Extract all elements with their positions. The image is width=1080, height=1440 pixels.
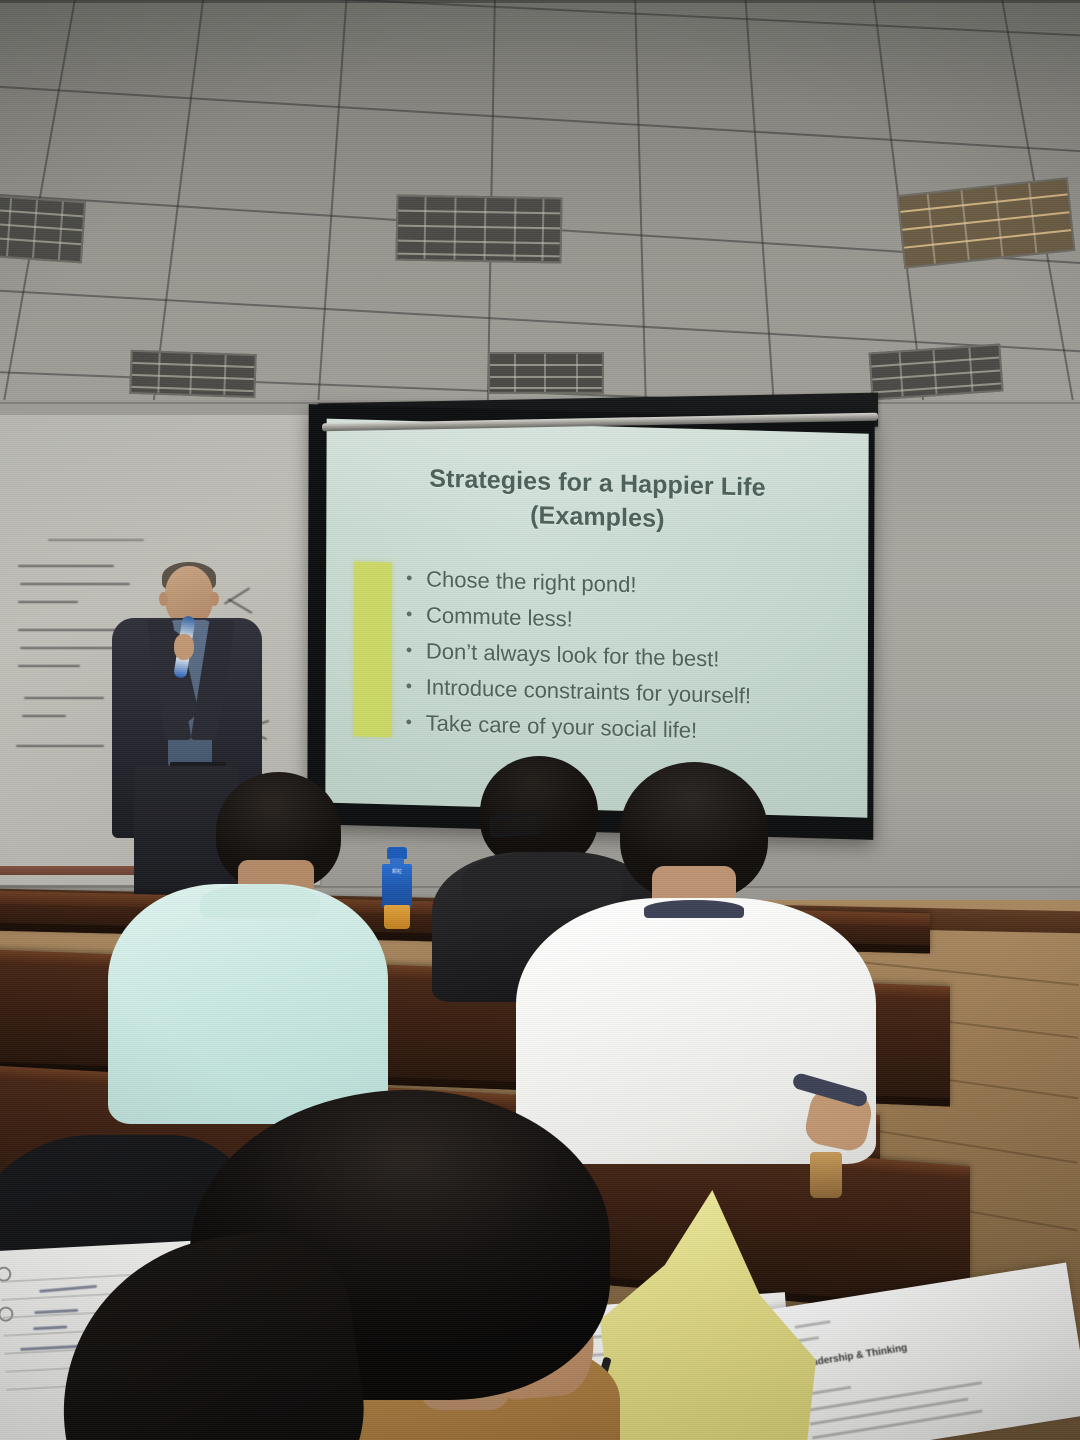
student-mint-shirt-body [108, 884, 388, 1124]
slide-accent-bar [354, 561, 393, 737]
collar-trim [644, 900, 744, 918]
presenter-ear-left [159, 592, 168, 606]
bullet-list: Chose the right pond! Commute less! Don’… [404, 561, 853, 753]
handout-title: Leadership & Thinking [800, 1343, 908, 1371]
suspended-ceiling [0, 0, 1080, 430]
presenter-ear-right [210, 592, 219, 606]
student-collar [200, 884, 320, 918]
presenter-hand [174, 634, 194, 660]
desk-cup [810, 1152, 842, 1198]
ceiling-air-vent [395, 195, 562, 264]
ceiling-air-vent-rear [129, 350, 256, 398]
student-mint-shirt [108, 772, 388, 1120]
ceiling-light-fixture-warm [897, 177, 1076, 269]
foreground-woman [30, 1090, 590, 1440]
ceiling-air-vent-right [868, 343, 1003, 400]
water-bottle: 颗粒 [382, 847, 412, 929]
slide-bullet-list: Chose the right pond! Commute less! Don’… [404, 561, 853, 753]
ceiling-air-vent-center [488, 352, 604, 394]
bottle-liquid [384, 905, 410, 929]
classroom-photo: — illegible handwritten line — Strategie… [0, 0, 1080, 1440]
bottle-label-text: 颗粒 [385, 869, 409, 876]
slide-title: Strategies for a Happier Life (Examples) [326, 459, 868, 542]
bottle-label: 颗粒 [382, 864, 412, 908]
ceiling-light-fixture [0, 195, 86, 264]
